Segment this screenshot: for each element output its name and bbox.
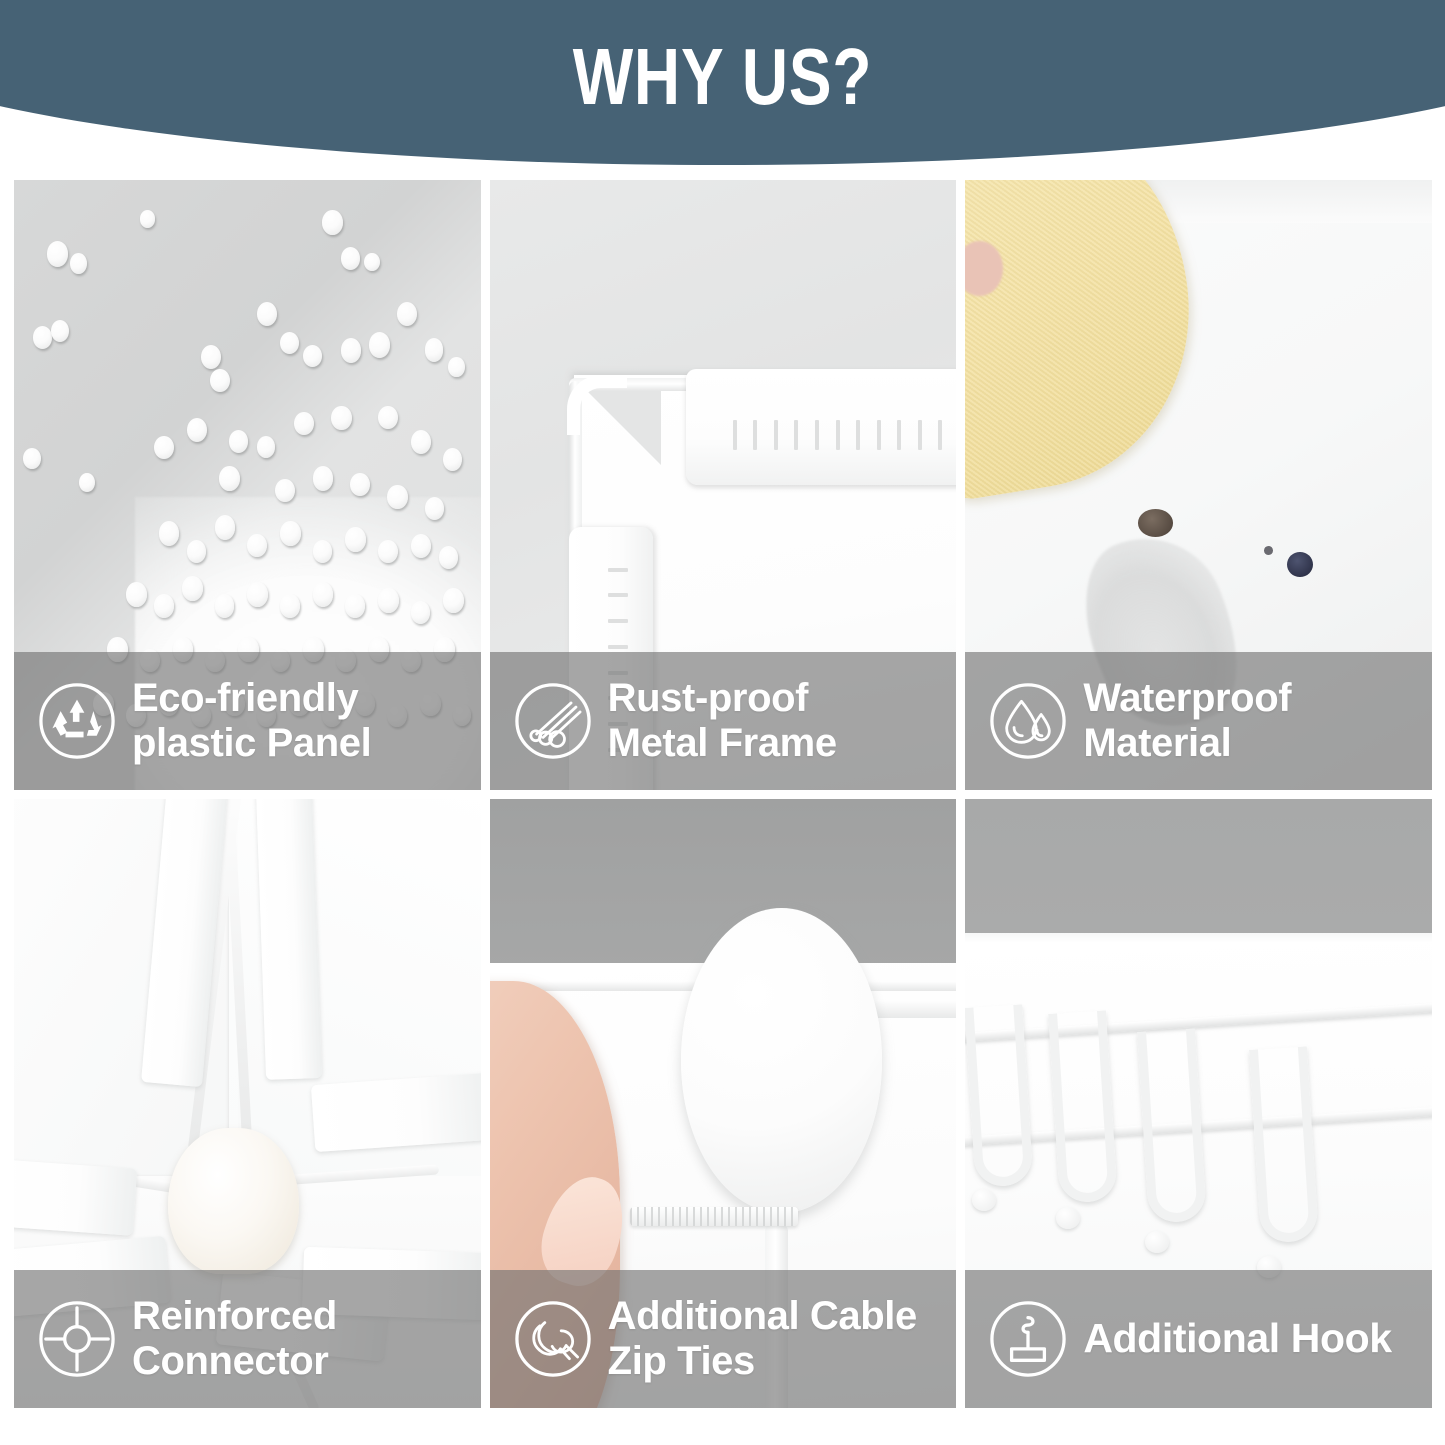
hook-icon (987, 1298, 1069, 1380)
feature-card-rust-proof-metal-frame[interactable]: Rust-proof Metal Frame (490, 180, 957, 790)
strap-mid-left (14, 1159, 137, 1236)
round-connector-cap (681, 908, 882, 1213)
yellow-cloth (965, 180, 1215, 505)
feature-label-bar: Eco-friendly plastic Panel (14, 652, 481, 790)
feature-label-text: Rust-proof Metal Frame (608, 676, 837, 766)
feature-label-text: Waterproof Material (1083, 676, 1291, 766)
feature-label-text: Eco-friendly plastic Panel (132, 676, 371, 766)
hook-1 (965, 1004, 1033, 1187)
feature-label-bar: Waterproof Material (965, 652, 1432, 790)
feature-label-bar: Additional Cable Zip Ties (490, 1270, 957, 1408)
panel-board-edge (965, 933, 1432, 943)
recycle-icon (36, 680, 118, 762)
frame-rod-right (872, 1000, 956, 1018)
feature-grid: Eco-friendly plastic Panel (14, 180, 1432, 1408)
liquid-drop-dark (1287, 552, 1313, 578)
feature-label-text: Additional Hook (1083, 1316, 1391, 1362)
zip-tie-icon (512, 1298, 594, 1380)
hook-4 (1249, 1047, 1319, 1244)
feature-card-eco-friendly-plastic-panel[interactable]: Eco-friendly plastic Panel (14, 180, 481, 790)
feature-label-bar: Rust-proof Metal Frame (490, 652, 957, 790)
feature-card-waterproof-material[interactable]: Waterproof Material (965, 180, 1432, 790)
feature-label-text: Additional Cable Zip Ties (608, 1294, 917, 1384)
page-title: WHY US? (145, 0, 1301, 145)
feature-label-bar: Reinforced Connector (14, 1270, 481, 1408)
zip-tie-strap (630, 1207, 798, 1227)
liquid-drop-brown (1138, 509, 1173, 536)
feature-label-text: Reinforced Connector (132, 1294, 337, 1384)
feature-label-bar: Additional Hook (965, 1270, 1432, 1408)
water-drops-icon (987, 680, 1069, 762)
hook-1-tip (972, 1189, 996, 1211)
liquid-drop-small (1264, 546, 1273, 555)
feature-card-additional-cable-zip-ties[interactable]: Additional Cable Zip Ties (490, 799, 957, 1409)
feature-card-additional-hook[interactable]: Additional Hook (965, 799, 1432, 1409)
feature-card-reinforced-connector[interactable]: Reinforced Connector (14, 799, 481, 1409)
header-banner: WHY US? (0, 0, 1445, 200)
crosshair-connector-icon (36, 1298, 118, 1380)
metal-tubes-icon (512, 680, 594, 762)
hook-2-tip (1056, 1207, 1080, 1229)
hook-3 (1137, 1028, 1207, 1223)
hook-2 (1048, 1010, 1118, 1203)
strap-mid-right (311, 1073, 481, 1152)
panel-clip-horizontal (686, 369, 957, 485)
reinforced-connector-hub (168, 1128, 299, 1274)
strap-upper-right (256, 799, 322, 1080)
